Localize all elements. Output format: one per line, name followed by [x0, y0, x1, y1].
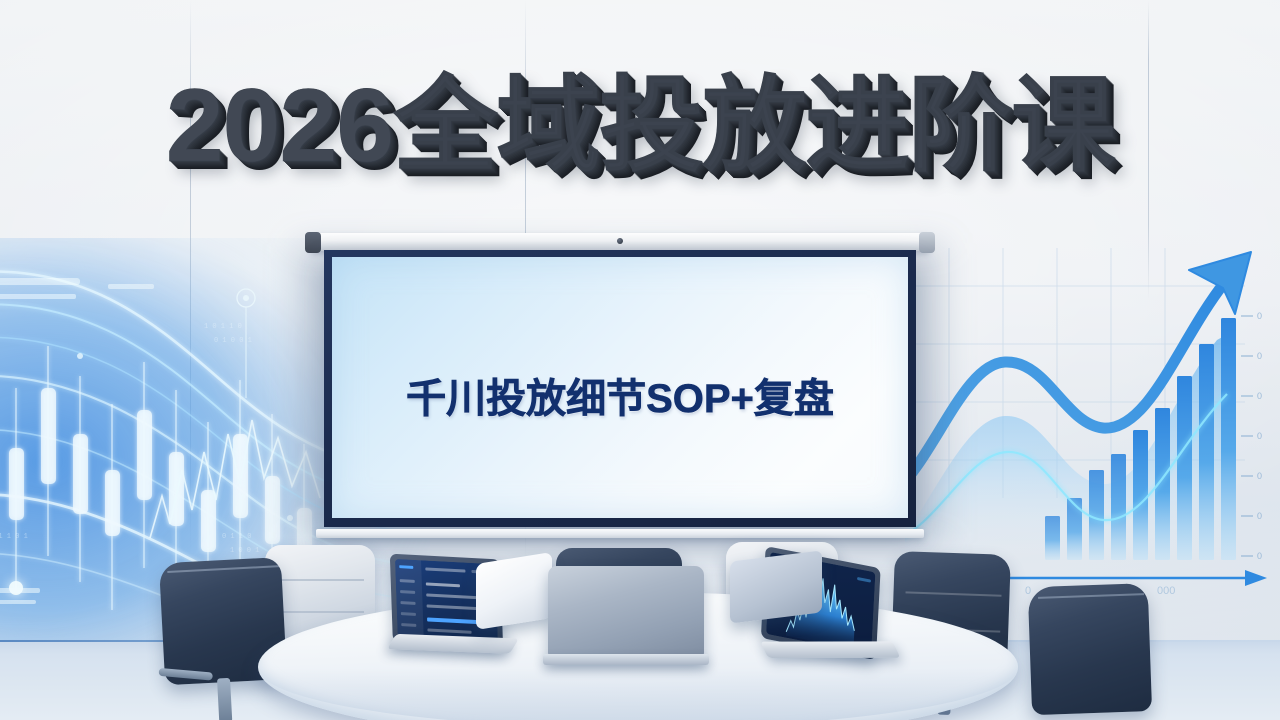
- chair-far-right-dark[interactable]: [1028, 583, 1159, 720]
- roller-mount-screw-icon: [617, 238, 623, 244]
- screen-headline: 千川投放细节SOP+复盘: [406, 366, 834, 424]
- laptop-lid: [548, 566, 704, 658]
- svg-text:1 0 1 1 0: 1 0 1 1 0: [204, 323, 242, 331]
- screen-surface: 千川投放细节SOP+复盘: [332, 257, 908, 518]
- headline-year: 2026: [166, 68, 393, 184]
- laptop-lid: [730, 550, 822, 623]
- roller-end-cap-left: [305, 232, 321, 253]
- svg-text:0: 0: [1257, 311, 1262, 321]
- svg-text:0: 0: [1257, 431, 1262, 441]
- svg-text:0: 0: [1257, 551, 1262, 561]
- chart-y-axis-labels: 00 00 00 0: [1257, 311, 1262, 561]
- svg-text:0 1 0 0 1: 0 1 0 0 1: [214, 337, 252, 345]
- screen-roller-housing[interactable]: [310, 233, 930, 251]
- svg-text:0: 0: [1257, 351, 1262, 361]
- screen-frame: 千川投放细节SOP+复盘: [324, 250, 916, 527]
- dashboard-sidebar: [395, 559, 424, 638]
- chair-leg: [217, 678, 232, 720]
- poster-canvas: 00 00 00 0 00000: [0, 0, 1280, 720]
- chair-seam: [276, 579, 364, 581]
- chart-y-axis-ticks: [1241, 316, 1253, 556]
- svg-text:0: 0: [1257, 391, 1262, 401]
- projector-screen: 千川投放细节SOP+复盘: [310, 233, 930, 533]
- laptop-center-macbook[interactable]: [548, 566, 718, 676]
- svg-text:000: 000: [1157, 585, 1175, 597]
- chair-backrest: [1028, 583, 1152, 715]
- laptop-right-closed[interactable]: [730, 556, 830, 636]
- svg-text:1 0 0 1: 1 0 0 1: [230, 547, 259, 555]
- headline-rest: 全域投放进阶课: [393, 68, 1114, 184]
- chart-bars: [1045, 318, 1236, 560]
- laptop-keyboard-base: [543, 654, 709, 665]
- svg-text:0: 0: [1257, 471, 1262, 481]
- laptop-keyboard-base: [760, 641, 900, 658]
- glow-particle: [77, 353, 83, 359]
- svg-text:0 1 1 0 1: 0 1 1 0 1: [0, 533, 28, 541]
- page-title: 2026全域投放进阶课: [0, 62, 1280, 192]
- screen-bottom-weight-bar: [316, 529, 924, 538]
- roller-end-cap-right: [919, 232, 935, 253]
- svg-text:0 1 1 0: 0 1 1 0: [222, 533, 251, 541]
- laptop-lid: [476, 552, 552, 630]
- svg-text:0: 0: [1257, 511, 1262, 521]
- glow-particle: [287, 515, 293, 521]
